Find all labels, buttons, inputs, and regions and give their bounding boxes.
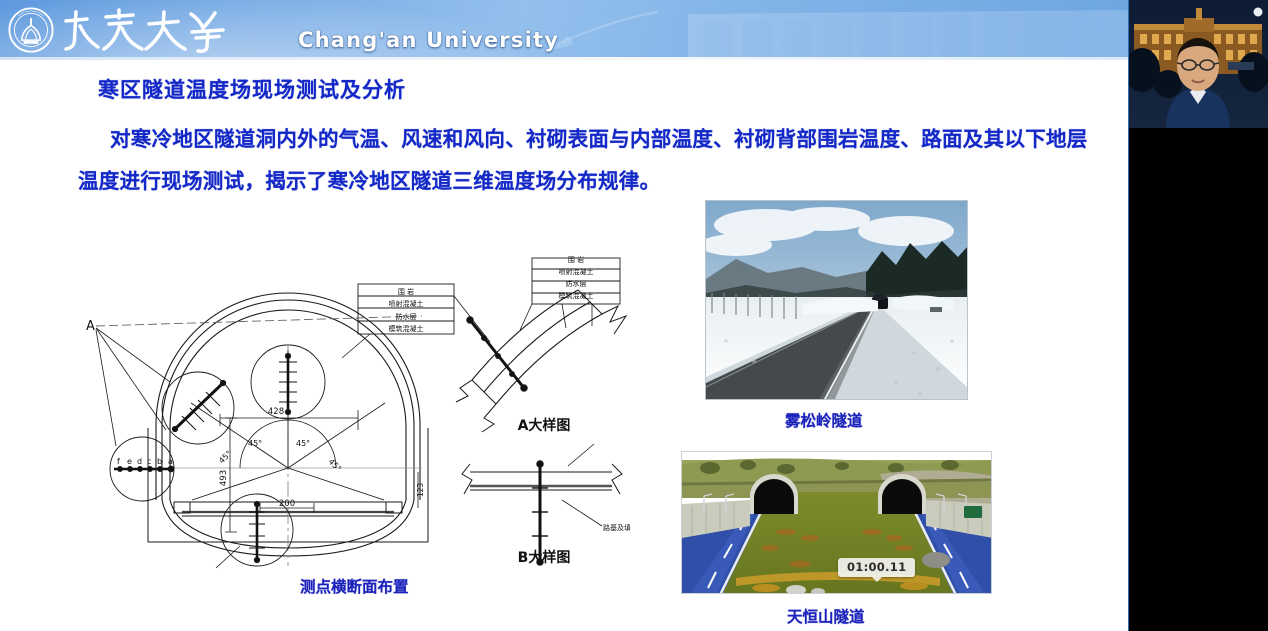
photo-top-caption: 雾松岭隧道 bbox=[785, 409, 863, 431]
angle-label-1: 45° bbox=[248, 439, 262, 448]
banner-bottom-edge bbox=[0, 57, 1128, 60]
detail-a-caption: A大样图 bbox=[518, 417, 571, 434]
photo-tianhengshan-tunnel bbox=[681, 451, 992, 594]
svg-text:模筑混凝土: 模筑混凝土 bbox=[559, 291, 594, 300]
snow-road-winter-image bbox=[706, 201, 968, 400]
cad-figure-caption: 测点横断面布置 bbox=[300, 575, 409, 597]
callout-a-label: A bbox=[86, 319, 95, 334]
callout-b-label: B bbox=[208, 569, 217, 570]
university-en-wordmark: Chang'an University bbox=[298, 28, 559, 52]
svg-text:模筑混凝土: 模筑混凝土 bbox=[389, 324, 424, 333]
university-emblem-icon bbox=[8, 7, 54, 53]
presentation-screen: Chang'an University 寒区隧道温度场现场测试及分析 对寒冷地区… bbox=[0, 0, 1268, 631]
presenter-webcam-image bbox=[1128, 0, 1268, 128]
svg-text:防水层: 防水层 bbox=[396, 312, 417, 321]
legend-rows-detail-a: 围 岩 喷射混凝土 防水层 模筑混凝土 bbox=[559, 255, 594, 300]
slide-canvas: Chang'an University 寒区隧道温度场现场测试及分析 对寒冷地区… bbox=[0, 0, 1128, 631]
svg-text:c: c bbox=[147, 457, 151, 466]
svg-text:f: f bbox=[117, 457, 120, 466]
svg-text:e: e bbox=[127, 457, 132, 466]
svg-text:a: a bbox=[168, 457, 173, 466]
angle-label-3: 45° bbox=[217, 449, 233, 465]
slide-body-paragraph: 对寒冷地区隧道洞内外的气温、风速和风向、衬砌表面与内部温度、衬砌背部围岩温度、路… bbox=[78, 118, 1108, 202]
presenter-video-panel[interactable] bbox=[1128, 0, 1268, 631]
tunnel-cross-section-drawing: A B 428 493 200 123 45° 45° 45° 45° fe d… bbox=[70, 250, 630, 570]
svg-text:d: d bbox=[137, 457, 142, 466]
dimension-493: 493 bbox=[219, 470, 229, 486]
svg-text:喷射混凝土: 喷射混凝土 bbox=[559, 267, 594, 276]
svg-text:防水层: 防水层 bbox=[566, 279, 587, 288]
annotation-roadbase: 路基及填充 bbox=[603, 523, 630, 532]
slide-title: 寒区隧道温度场现场测试及分析 bbox=[98, 74, 406, 104]
university-header-banner: Chang'an University bbox=[0, 0, 1128, 60]
dimension-428: 428 bbox=[268, 407, 284, 417]
photo-bottom-caption: 天恒山隧道 bbox=[787, 605, 865, 627]
dimension-123: 123 bbox=[416, 483, 425, 498]
angle-label-4: 45° bbox=[327, 457, 343, 473]
video-panel-empty-area bbox=[1128, 128, 1268, 631]
presenter-video-feed[interactable] bbox=[1128, 0, 1268, 128]
video-timestamp-tooltip: 01:00.11 bbox=[838, 558, 915, 577]
university-cn-wordmark-icon bbox=[58, 6, 228, 54]
detail-b-caption: B大样图 bbox=[518, 549, 571, 566]
dimension-200: 200 bbox=[279, 499, 295, 509]
angle-label-2: 45° bbox=[296, 439, 310, 448]
svg-text:围 岩: 围 岩 bbox=[568, 255, 584, 264]
svg-text:b: b bbox=[157, 457, 162, 466]
twin-tunnel-portal-image bbox=[682, 452, 992, 594]
measurement-point-labels: fe dc ba bbox=[117, 457, 173, 466]
svg-text:喷射混凝土: 喷射混凝土 bbox=[389, 299, 424, 308]
svg-text:围 岩: 围 岩 bbox=[398, 287, 414, 296]
legend-rows-main: 围 岩 喷射混凝土 防水层 模筑混凝土 bbox=[389, 287, 424, 333]
photo-wusongling-tunnel bbox=[705, 200, 968, 400]
